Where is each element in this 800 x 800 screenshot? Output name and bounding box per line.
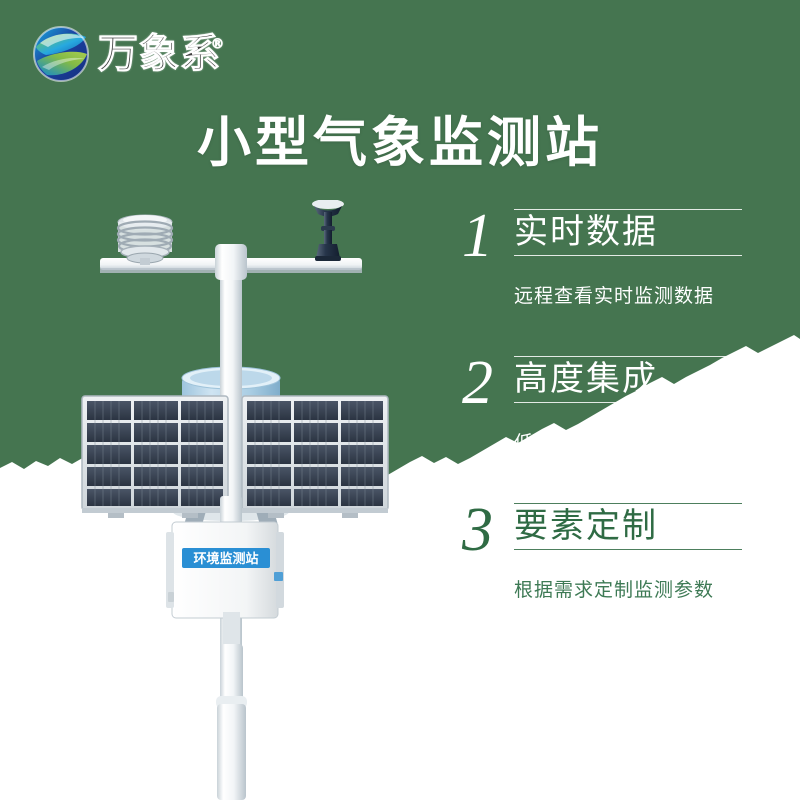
ultrasonic-wind-sensor: [312, 200, 344, 261]
brand-logo-text: 万象系®: [98, 34, 221, 74]
feature-title-3: 要素定制: [514, 504, 792, 549]
brand-name: 万象系: [98, 31, 221, 77]
solar-panel-right: [242, 396, 388, 518]
control-cabinet: 环境监测站: [166, 522, 284, 618]
feature-number-1: 1: [462, 205, 514, 267]
feature-rule-bottom-2: [514, 402, 742, 403]
registered-mark: ®: [211, 38, 225, 51]
feature-subtitle-2: 低功耗 可快速安装: [514, 428, 792, 455]
feature-title-1: 实时数据: [514, 210, 792, 255]
feature-subtitle-3: 根据需求定制监测参数: [514, 575, 792, 602]
globe-sphere-icon: [30, 23, 92, 85]
feature-title-2: 高度集成: [514, 357, 792, 402]
feature-number-3: 3: [462, 499, 514, 561]
feature-subtitle-1: 远程查看实时监测数据: [514, 281, 792, 308]
feature-item-1: 1 实时数据 远程查看实时监测数据: [462, 205, 792, 308]
cabinet-label-text: 环境监测站: [193, 551, 258, 567]
feature-number-2: 2: [462, 352, 514, 414]
solar-panel-left: [82, 396, 228, 518]
brand-logo: 万象系®: [30, 20, 260, 88]
feature-rule-bottom-1: [514, 255, 742, 256]
feature-item-3: 3 要素定制 根据需求定制监测参数: [462, 499, 792, 602]
feature-rule-bottom-3: [514, 549, 742, 550]
feature-list: 1 实时数据 远程查看实时监测数据 2 高度集成 低功耗 可快速安装: [462, 205, 792, 646]
feature-item-2: 2 高度集成 低功耗 可快速安装: [462, 352, 792, 455]
page-title: 小型气象监测站: [0, 98, 800, 177]
weather-station-illustration: 环境监测站: [60, 200, 440, 800]
product-poster: 万象系® 小型气象监测站 1 实时数据 远程查看实时监测数据 2 高度集成: [0, 0, 800, 800]
radiation-shield-sensor: [118, 215, 172, 265]
